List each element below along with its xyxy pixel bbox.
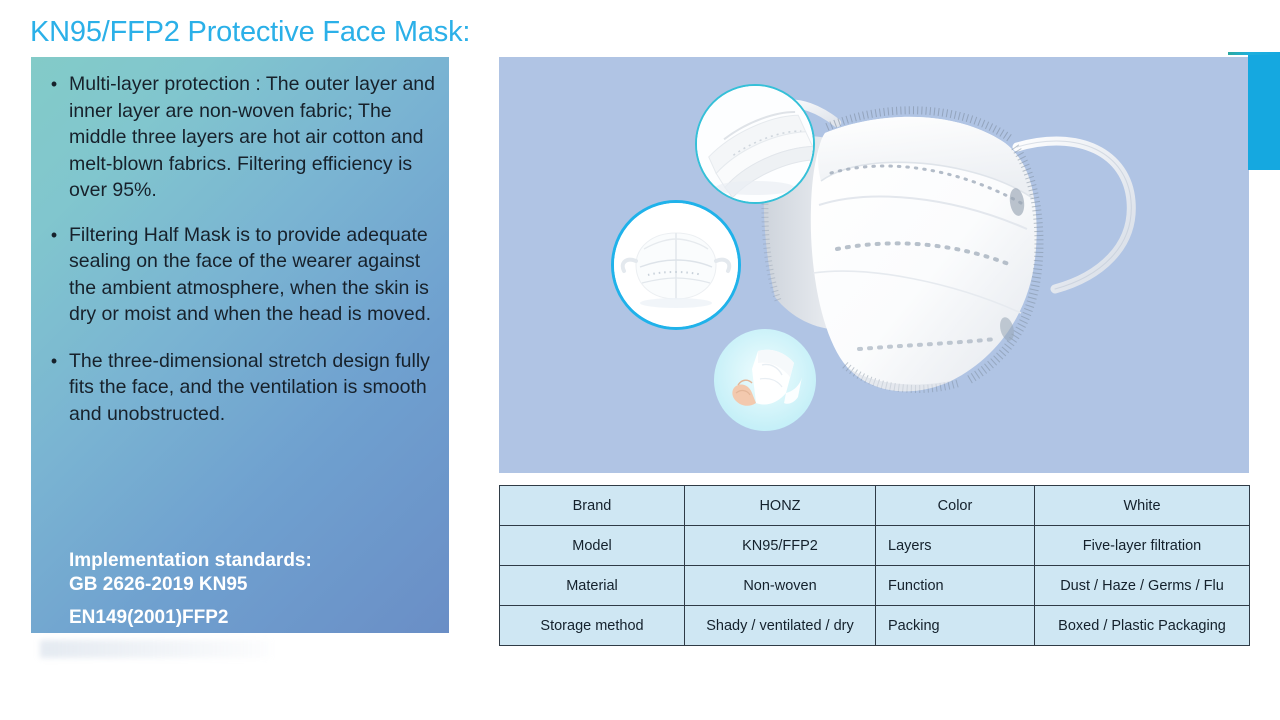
- table-row: Storage method Shady / ventilated / dry …: [500, 606, 1250, 646]
- callout-folded-mask: [695, 84, 815, 204]
- cell-key: Layers: [876, 526, 1035, 566]
- cell-value: Dust / Haze / Germs / Flu: [1035, 566, 1250, 606]
- left-feature-panel: • Multi-layer protection : The outer lay…: [31, 57, 449, 633]
- cell-key: Material: [500, 566, 685, 606]
- kn95-mask-photo: [759, 77, 1159, 437]
- cell-value: Non-woven: [685, 566, 876, 606]
- list-item: • Filtering Half Mask is to provide adeq…: [39, 222, 445, 328]
- cell-value: White: [1035, 486, 1250, 526]
- bullet-text: Multi-layer protection : The outer layer…: [69, 71, 445, 204]
- implementation-standards-block: Implementation standards: GB 2626-2019 K…: [69, 549, 443, 633]
- list-item: • The three-dimensional stretch design f…: [39, 348, 445, 428]
- cell-key: Model: [500, 526, 685, 566]
- folded-mask-detail-icon: [697, 86, 813, 202]
- mask-front-view-detail-icon: [614, 203, 738, 327]
- cell-key: Storage method: [500, 606, 685, 646]
- cell-value: Five-layer filtration: [1035, 526, 1250, 566]
- cell-key: Function: [876, 566, 1035, 606]
- cell-key: Brand: [500, 486, 685, 526]
- cell-value: KN95/FFP2: [685, 526, 876, 566]
- cell-key: Color: [876, 486, 1035, 526]
- table-row: Brand HONZ Color White: [500, 486, 1250, 526]
- bullet-dot-icon: •: [39, 71, 69, 204]
- cell-key: Packing: [876, 606, 1035, 646]
- bullet-list: • Multi-layer protection : The outer lay…: [39, 71, 445, 427]
- slide-canvas: KN95/FFP2 Protective Face Mask: • Multi-…: [0, 0, 1280, 720]
- bullet-dot-icon: •: [39, 222, 69, 328]
- standards-heading: Implementation standards:: [69, 549, 443, 572]
- standard-gb: GB 2626-2019 KN95: [69, 573, 443, 596]
- product-image-panel: [499, 57, 1249, 473]
- cell-value: Boxed / Plastic Packaging: [1035, 606, 1250, 646]
- standard-en: EN149(2001)FFP2: [69, 606, 443, 629]
- table-row: Model KN95/FFP2 Layers Five-layer filtra…: [500, 526, 1250, 566]
- callout-mask-front-view: [611, 200, 741, 330]
- background-artifact: [40, 640, 270, 658]
- bullet-dot-icon: •: [39, 348, 69, 428]
- page-title: KN95/FFP2 Protective Face Mask:: [30, 16, 470, 49]
- bullet-text: The three-dimensional stretch design ful…: [69, 348, 445, 428]
- table-row: Material Non-woven Function Dust / Haze …: [500, 566, 1250, 606]
- list-item: • Multi-layer protection : The outer lay…: [39, 71, 445, 204]
- bullet-text: Filtering Half Mask is to provide adequa…: [69, 222, 445, 328]
- accent-bar: [1248, 55, 1280, 170]
- hand-holding-mask-detail-icon: [714, 329, 816, 431]
- cell-value: Shady / ventilated / dry: [685, 606, 876, 646]
- cell-value: HONZ: [685, 486, 876, 526]
- specification-table: Brand HONZ Color White Model KN95/FFP2 L…: [499, 485, 1250, 646]
- callout-hand-holding-mask: [714, 329, 816, 431]
